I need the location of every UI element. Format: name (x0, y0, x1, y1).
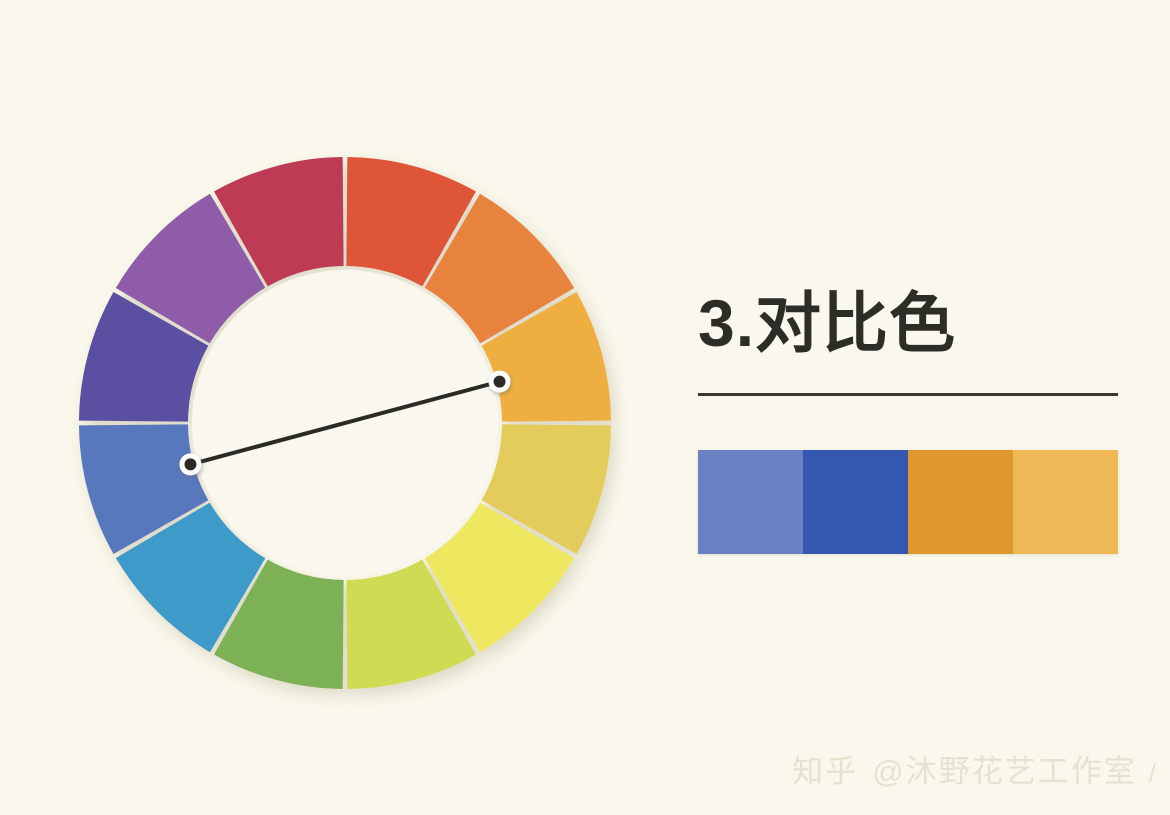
page-title: 3.对比色 (698, 290, 1120, 357)
marker-amber-dot (494, 376, 506, 388)
color-wheel-panel (40, 118, 650, 728)
palette-swatch-3[interactable] (908, 450, 1013, 554)
watermark-handle: @沐野花艺工作室 (872, 754, 1136, 789)
marker-blue[interactable] (179, 453, 201, 475)
watermark-platform: 知乎 (792, 754, 858, 789)
contrast-color-palette (698, 450, 1118, 554)
palette-swatch-4[interactable] (1013, 450, 1118, 554)
watermark-tail: / (1149, 758, 1158, 788)
title-divider (698, 393, 1118, 396)
watermark: 知乎@沐野花艺工作室/ (792, 746, 1158, 791)
info-panel: 3.对比色 (698, 290, 1120, 554)
marker-amber[interactable] (489, 371, 511, 393)
palette-swatch-1[interactable] (698, 450, 803, 554)
palette-swatch-2[interactable] (803, 450, 908, 554)
marker-blue-dot (184, 458, 196, 470)
color-wheel-svg (40, 118, 650, 728)
